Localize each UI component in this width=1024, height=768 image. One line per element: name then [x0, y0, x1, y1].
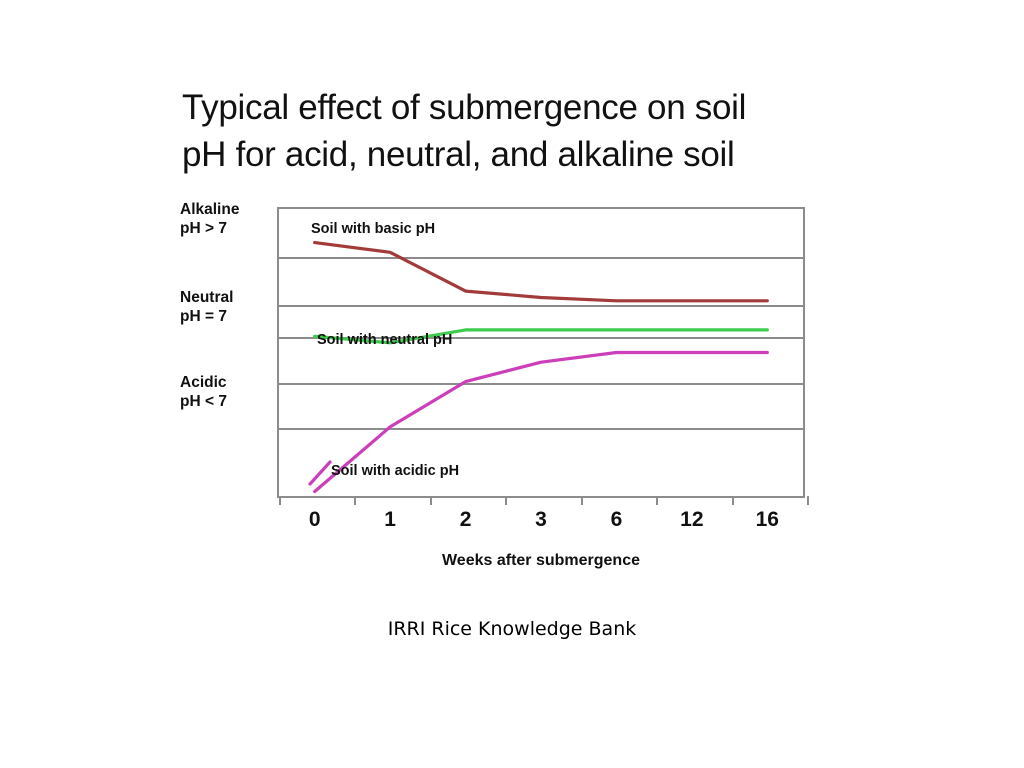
x-tick-label-16: 16 — [737, 508, 797, 532]
x-axis-tick-7 — [807, 496, 809, 505]
gridline-5 — [279, 428, 803, 430]
x-tick-label-6: 6 — [586, 508, 646, 532]
x-axis-tick-2 — [430, 496, 432, 505]
chart-figure: Alkaline pH > 7 Neutral pH = 7 Acidic pH… — [180, 196, 840, 586]
series-label-acidic: Soil with acidic pH — [331, 463, 459, 479]
x-tick-label-1: 1 — [360, 508, 420, 532]
y-axis-label-neutral: Neutral pH = 7 — [180, 288, 272, 326]
x-axis-tick-3 — [505, 496, 507, 505]
x-tick-label-0: 0 — [285, 508, 345, 532]
gridline-1 — [279, 257, 803, 259]
y-axis-label-acidic: Acidic pH < 7 — [180, 373, 272, 411]
x-axis-tick-4 — [581, 496, 583, 505]
source-caption: IRRI Rice Knowledge Bank — [0, 618, 1024, 640]
x-axis-tick-0 — [279, 496, 281, 505]
series-label-neutral: Soil with neutral pH — [317, 332, 452, 348]
series-label-basic: Soil with basic pH — [311, 221, 435, 237]
x-tick-label-12: 12 — [662, 508, 722, 532]
slide-canvas: Typical effect of submergence on soil pH… — [0, 0, 1024, 768]
x-axis-tick-1 — [354, 496, 356, 505]
gridline-4 — [279, 383, 803, 385]
x-axis-tick-5 — [656, 496, 658, 505]
x-tick-label-2: 2 — [436, 508, 496, 532]
y-axis-label-alkaline: Alkaline pH > 7 — [180, 200, 272, 238]
x-tick-label-3: 3 — [511, 508, 571, 532]
x-axis-title: Weeks after submergence — [277, 552, 805, 570]
x-axis-tick-labels: 012361216 — [277, 508, 805, 536]
plot-area — [277, 207, 805, 498]
gridline-2 — [279, 305, 803, 307]
chart-title: Typical effect of submergence on soil pH… — [182, 84, 882, 178]
x-axis-tick-6 — [732, 496, 734, 505]
